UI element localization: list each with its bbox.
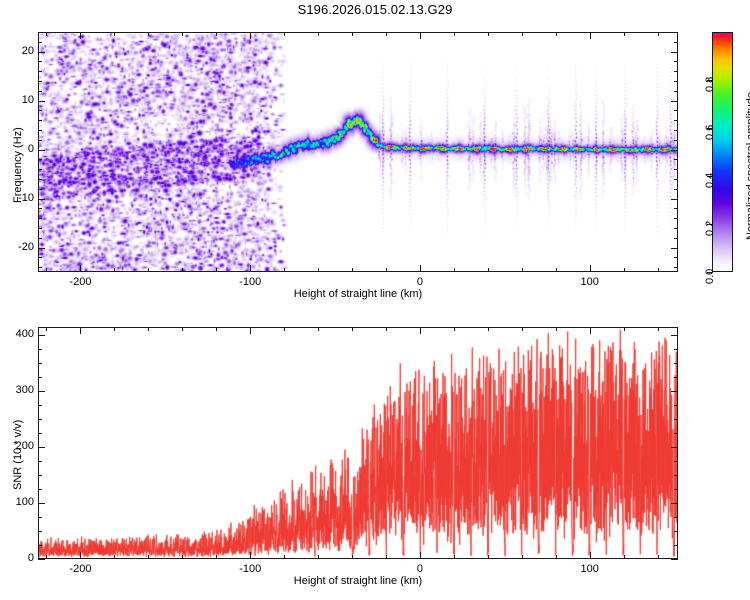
axis-tick: [674, 218, 678, 219]
axis-tick: [674, 228, 678, 229]
y-tick-label: 300: [0, 384, 34, 396]
colorbar-tick-label: 0.2: [704, 221, 716, 236]
axis-tick: [624, 268, 625, 272]
figure-root: S196.2026.015.02.13.G29 -200-1000100-20-…: [0, 0, 750, 600]
axis-tick: [488, 327, 489, 331]
spectrogram-xaxis-title: Height of straight line (km): [178, 288, 538, 300]
axis-tick: [38, 130, 42, 131]
axis-tick: [674, 433, 678, 434]
x-tick-label: -100: [220, 276, 280, 288]
axis-tick: [38, 489, 42, 490]
axis-tick: [674, 120, 678, 121]
colorbar-tick-label: 0.4: [704, 173, 716, 188]
axis-tick: [674, 257, 678, 258]
axis-tick: [38, 52, 45, 53]
axis-tick: [114, 268, 115, 272]
axis-tick: [38, 32, 42, 33]
axis-tick: [38, 545, 42, 546]
axis-tick: [454, 555, 455, 559]
axis-tick: [352, 555, 353, 559]
axis-tick: [674, 179, 678, 180]
snr-trace: [39, 328, 677, 558]
axis-tick: [38, 42, 42, 43]
axis-tick: [674, 267, 678, 268]
axis-tick: [386, 32, 387, 36]
axis-tick: [38, 218, 42, 219]
axis-tick: [674, 189, 678, 190]
axis-tick: [182, 555, 183, 559]
axis-tick: [38, 531, 42, 532]
axis-tick: [38, 140, 42, 141]
axis-tick: [216, 555, 217, 559]
axis-tick: [674, 475, 678, 476]
axis-tick: [674, 489, 678, 490]
axis-tick: [250, 552, 251, 559]
axis-tick: [420, 327, 421, 334]
axis-tick: [556, 555, 557, 559]
axis-tick: [556, 32, 557, 36]
axis-tick: [352, 32, 353, 36]
axis-tick: [38, 189, 42, 190]
axis-tick: [658, 32, 659, 36]
x-tick-label: 100: [560, 276, 620, 288]
axis-tick: [38, 248, 45, 249]
axis-tick: [38, 461, 42, 462]
axis-tick: [38, 238, 42, 239]
axis-tick: [522, 327, 523, 331]
axis-tick: [674, 363, 678, 364]
x-tick-label: 0: [390, 276, 450, 288]
axis-tick: [38, 419, 42, 420]
axis-tick: [658, 327, 659, 331]
axis-tick: [284, 268, 285, 272]
axis-tick: [38, 110, 42, 111]
axis-tick: [590, 265, 591, 272]
axis-tick: [671, 391, 678, 392]
colorbar: [712, 32, 733, 272]
axis-tick: [46, 32, 47, 36]
axis-tick: [420, 32, 421, 39]
axis-tick: [671, 101, 678, 102]
y-tick-label: 10: [0, 94, 34, 106]
axis-tick: [38, 159, 42, 160]
axis-tick: [454, 32, 455, 36]
axis-tick: [624, 32, 625, 36]
axis-tick: [38, 503, 45, 504]
snr-xaxis-title: Height of straight line (km): [178, 575, 538, 587]
axis-tick: [318, 327, 319, 331]
axis-tick: [671, 559, 678, 560]
axis-tick: [674, 61, 678, 62]
axis-tick: [182, 32, 183, 36]
axis-tick: [674, 517, 678, 518]
spectrogram-image: [39, 33, 677, 271]
axis-tick: [38, 228, 42, 229]
axis-tick: [674, 169, 678, 170]
axis-tick: [674, 419, 678, 420]
axis-tick: [38, 91, 42, 92]
axis-tick: [488, 555, 489, 559]
axis-tick: [556, 327, 557, 331]
axis-tick: [674, 349, 678, 350]
axis-tick: [38, 475, 42, 476]
y-tick-label: 400: [0, 328, 34, 340]
axis-tick: [216, 327, 217, 331]
axis-tick: [80, 32, 81, 39]
axis-tick: [284, 555, 285, 559]
axis-tick: [674, 545, 678, 546]
axis-tick: [284, 327, 285, 331]
axis-tick: [674, 208, 678, 209]
axis-tick: [38, 257, 42, 258]
axis-tick: [522, 555, 523, 559]
x-tick-label: -200: [50, 276, 110, 288]
axis-tick: [674, 238, 678, 239]
axis-tick: [38, 349, 42, 350]
axis-tick: [674, 159, 678, 160]
axis-tick: [674, 405, 678, 406]
snr-yaxis-title: SNR (10 * v/v): [12, 420, 24, 490]
axis-tick: [38, 81, 42, 82]
axis-tick: [318, 268, 319, 272]
axis-tick: [80, 552, 81, 559]
axis-tick: [590, 327, 591, 334]
axis-tick: [38, 377, 42, 378]
axis-tick: [38, 120, 42, 121]
axis-tick: [674, 91, 678, 92]
axis-tick: [80, 327, 81, 334]
axis-tick: [386, 555, 387, 559]
axis-tick: [38, 199, 45, 200]
axis-tick: [556, 268, 557, 272]
y-tick-label: 0: [0, 552, 34, 564]
axis-tick: [216, 268, 217, 272]
axis-tick: [454, 327, 455, 331]
colorbar-tick-label: 0.6: [704, 125, 716, 140]
axis-tick: [216, 32, 217, 36]
axis-tick: [352, 327, 353, 331]
axis-tick: [38, 405, 42, 406]
snr-yaxis-title-text: SNR (10 * v/v): [12, 420, 24, 490]
axis-tick: [114, 327, 115, 331]
axis-tick: [590, 32, 591, 39]
axis-tick: [38, 179, 42, 180]
axis-tick: [80, 265, 81, 272]
axis-tick: [674, 377, 678, 378]
axis-tick: [148, 327, 149, 331]
axis-tick: [250, 265, 251, 272]
axis-tick: [671, 150, 678, 151]
axis-tick: [674, 42, 678, 43]
x-tick-label: 100: [560, 563, 620, 575]
axis-tick: [674, 32, 678, 33]
axis-tick: [522, 268, 523, 272]
axis-tick: [420, 552, 421, 559]
axis-tick: [624, 555, 625, 559]
axis-tick: [114, 32, 115, 36]
axis-tick: [38, 169, 42, 170]
axis-tick: [46, 268, 47, 272]
axis-tick: [38, 150, 45, 151]
axis-tick: [38, 433, 42, 434]
axis-tick: [352, 268, 353, 272]
figure-title: S196.2026.015.02.13.G29: [0, 2, 750, 17]
axis-tick: [38, 267, 42, 268]
axis-tick: [148, 268, 149, 272]
axis-tick: [318, 32, 319, 36]
axis-tick: [284, 32, 285, 36]
axis-tick: [658, 555, 659, 559]
axis-tick: [674, 140, 678, 141]
axis-tick: [46, 327, 47, 331]
axis-tick: [671, 52, 678, 53]
axis-tick: [182, 327, 183, 331]
axis-tick: [38, 71, 42, 72]
axis-tick: [386, 327, 387, 331]
snr-panel: [38, 327, 678, 559]
colorbar-tick-label: 0.0: [704, 269, 716, 284]
y-tick-label: 100: [0, 496, 34, 508]
axis-tick: [38, 363, 42, 364]
axis-tick: [674, 531, 678, 532]
axis-tick: [38, 517, 42, 518]
axis-tick: [38, 559, 45, 560]
axis-tick: [250, 32, 251, 39]
spectrogram-panel: [38, 32, 678, 272]
axis-tick: [488, 268, 489, 272]
axis-tick: [148, 32, 149, 36]
spectrogram-yaxis-title: Frequency (Hz): [12, 127, 24, 203]
y-tick-label: -20: [0, 241, 34, 253]
colorbar-tick-label: 0.8: [704, 77, 716, 92]
axis-tick: [38, 61, 42, 62]
y-tick-label: 20: [0, 45, 34, 57]
axis-tick: [46, 555, 47, 559]
axis-tick: [38, 447, 45, 448]
x-tick-label: 0: [390, 563, 450, 575]
colorbar-title: Normalized spectral amplitude: [745, 92, 750, 240]
axis-tick: [671, 335, 678, 336]
axis-tick: [114, 555, 115, 559]
axis-tick: [318, 555, 319, 559]
axis-tick: [674, 81, 678, 82]
axis-tick: [250, 327, 251, 334]
axis-tick: [182, 268, 183, 272]
axis-tick: [386, 268, 387, 272]
axis-tick: [674, 71, 678, 72]
axis-tick: [148, 555, 149, 559]
axis-tick: [671, 248, 678, 249]
axis-tick: [38, 101, 45, 102]
axis-tick: [38, 208, 42, 209]
axis-tick: [674, 461, 678, 462]
axis-tick: [624, 327, 625, 331]
axis-tick: [671, 199, 678, 200]
axis-tick: [671, 447, 678, 448]
x-tick-label: -200: [50, 563, 110, 575]
axis-tick: [38, 335, 45, 336]
axis-tick: [38, 391, 45, 392]
axis-tick: [488, 32, 489, 36]
axis-tick: [674, 130, 678, 131]
axis-tick: [590, 552, 591, 559]
axis-tick: [674, 110, 678, 111]
axis-tick: [420, 265, 421, 272]
axis-tick: [671, 503, 678, 504]
axis-tick: [454, 268, 455, 272]
axis-tick: [658, 268, 659, 272]
axis-tick: [522, 32, 523, 36]
x-tick-label: -100: [220, 563, 280, 575]
